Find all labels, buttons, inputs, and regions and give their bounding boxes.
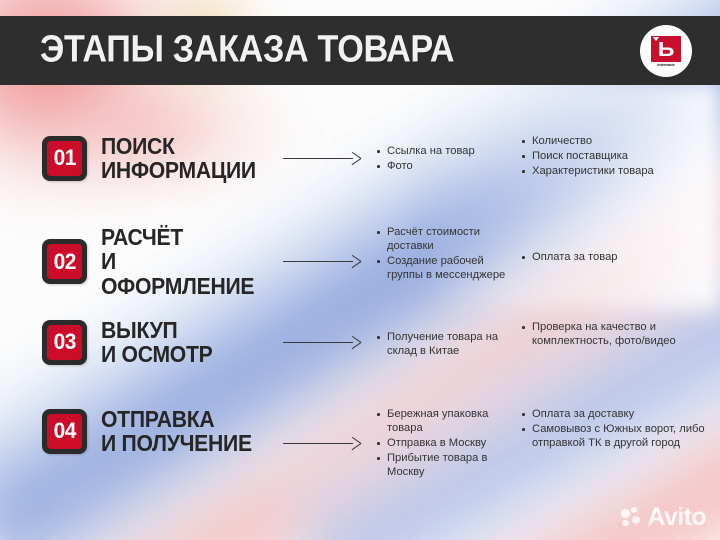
bullet-list: Расчёт стоимости доставки Создание рабоч… <box>376 225 521 282</box>
step-number-badge: 04 <box>42 409 87 454</box>
list-item: Оплата за доставку <box>521 407 711 421</box>
logo-caption: Intertrade <box>651 62 681 67</box>
arrow-line <box>283 443 353 444</box>
infographic-canvas: ЭТАПЫ ЗАКАЗА ТОВАРА Ь Intertrade 01 ПОИС… <box>0 0 720 540</box>
list-item: Характеристики товара <box>521 164 711 178</box>
step-heading: 01 ПОИСК ИНФОРМАЦИИ <box>0 134 268 183</box>
list-item: Самовывоз с Южных ворот, либо отправкой … <box>521 422 711 450</box>
steps-container: 01 ПОИСК ИНФОРМАЦИИ Ссылка на товар Фото <box>0 85 720 540</box>
list-item: Количество <box>521 134 711 148</box>
arrow-right-icon <box>283 256 361 268</box>
step-details-right: Количество Поиск поставщика Характеристи… <box>521 134 711 179</box>
step-details-right: Проверка на качество и комплектность, фо… <box>521 318 711 349</box>
step-title: ПОИСК ИНФОРМАЦИИ <box>101 134 256 183</box>
step-number-badge: 03 <box>42 320 87 365</box>
logo-square-icon: Ь Intertrade <box>651 36 681 66</box>
list-item: Фото <box>376 159 521 173</box>
bullet-list: Ссылка на товар Фото <box>376 144 521 173</box>
step-number-badge-inner: 01 <box>47 141 82 176</box>
step-row: 02 РАСЧЁТ И ОФОРМЛЕНИЕ Расчёт стоимости … <box>0 225 720 298</box>
list-item: Поиск поставщика <box>521 149 711 163</box>
step-number-badge-inner: 03 <box>47 325 82 360</box>
logo-glyph: Ь <box>658 40 675 60</box>
arrow-right-icon <box>283 438 361 450</box>
avito-wordmark: Avito <box>647 505 706 530</box>
step-details-middle: Бережная упаковка товара Отправка в Моск… <box>376 407 521 480</box>
flow-arrow <box>268 336 376 348</box>
list-item: Расчёт стоимости доставки <box>376 225 521 253</box>
list-item: Отправка в Москву <box>376 436 521 450</box>
step-number-badge-inner: 04 <box>47 414 82 449</box>
arrow-line <box>283 261 353 262</box>
step-number-badge-inner: 02 <box>47 244 82 279</box>
arrow-head <box>350 438 361 449</box>
step-row: 01 ПОИСК ИНФОРМАЦИИ Ссылка на товар Фото <box>0 134 720 183</box>
list-item: Создание рабочей группы в мессенджере <box>376 254 521 282</box>
bullet-list: Оплата за товар <box>521 250 711 264</box>
arrow-right-icon <box>283 336 361 348</box>
step-details-middle: Ссылка на товар Фото <box>376 134 521 174</box>
step-title: ОТПРАВКА И ПОЛУЧЕНИЕ <box>101 407 252 456</box>
list-item: Оплата за товар <box>521 250 711 264</box>
step-heading: 03 ВЫКУП И ОСМОТР <box>0 318 268 367</box>
step-number-badge: 01 <box>42 136 87 181</box>
step-details-right: Оплата за доставку Самовывоз с Южных вор… <box>521 407 711 451</box>
bullet-list: Бережная упаковка товара Отправка в Моск… <box>376 407 521 479</box>
arrow-line <box>283 158 353 159</box>
step-number-badge: 02 <box>42 239 87 284</box>
step-heading: 04 ОТПРАВКА И ПОЛУЧЕНИЕ <box>0 407 268 456</box>
list-item: Бережная упаковка товара <box>376 407 521 435</box>
avito-watermark: Avito <box>621 505 706 530</box>
step-number: 02 <box>53 251 75 273</box>
list-item: Ссылка на товар <box>376 144 521 158</box>
page-title: ЭТАПЫ ЗАКАЗА ТОВАРА <box>40 28 454 71</box>
step-number: 01 <box>53 147 75 169</box>
bullet-list: Проверка на качество и комплектность, фо… <box>521 320 711 348</box>
arrow-head <box>350 153 361 164</box>
step-row: 03 ВЫКУП И ОСМОТР Получение товара на ск… <box>0 318 720 367</box>
header-bar: ЭТАПЫ ЗАКАЗА ТОВАРА Ь Intertrade <box>0 16 720 85</box>
bullet-list: Получение товара на склад в Китае <box>376 330 521 358</box>
list-item: Проверка на качество и комплектность, фо… <box>521 320 711 348</box>
step-number: 03 <box>53 331 75 353</box>
avito-dots-icon <box>621 507 643 529</box>
flow-arrow <box>268 256 376 268</box>
step-details-middle: Расчёт стоимости доставки Создание рабоч… <box>376 225 521 283</box>
step-title: ВЫКУП И ОСМОТР <box>101 318 212 367</box>
arrow-line <box>283 342 353 343</box>
step-title: РАСЧЁТ И ОФОРМЛЕНИЕ <box>101 225 255 298</box>
flow-arrow <box>268 152 376 164</box>
bullet-list: Оплата за доставку Самовывоз с Южных вор… <box>521 407 711 450</box>
arrow-right-icon <box>283 152 361 164</box>
flow-arrow <box>268 438 376 450</box>
arrow-head <box>350 337 361 348</box>
list-item: Получение товара на склад в Китае <box>376 330 521 358</box>
step-number: 04 <box>53 420 75 442</box>
bullet-list: Количество Поиск поставщика Характеристи… <box>521 134 711 178</box>
step-row: 04 ОТПРАВКА И ПОЛУЧЕНИЕ Бережная упаковк… <box>0 407 720 480</box>
list-item: Прибытие товара в Москву <box>376 451 521 479</box>
step-heading: 02 РАСЧЁТ И ОФОРМЛЕНИЕ <box>0 225 268 298</box>
step-details-right: Оплата за товар <box>521 225 711 265</box>
brand-logo: Ь Intertrade <box>640 25 692 77</box>
step-details-middle: Получение товара на склад в Китае <box>376 318 521 359</box>
arrow-head <box>350 256 361 267</box>
